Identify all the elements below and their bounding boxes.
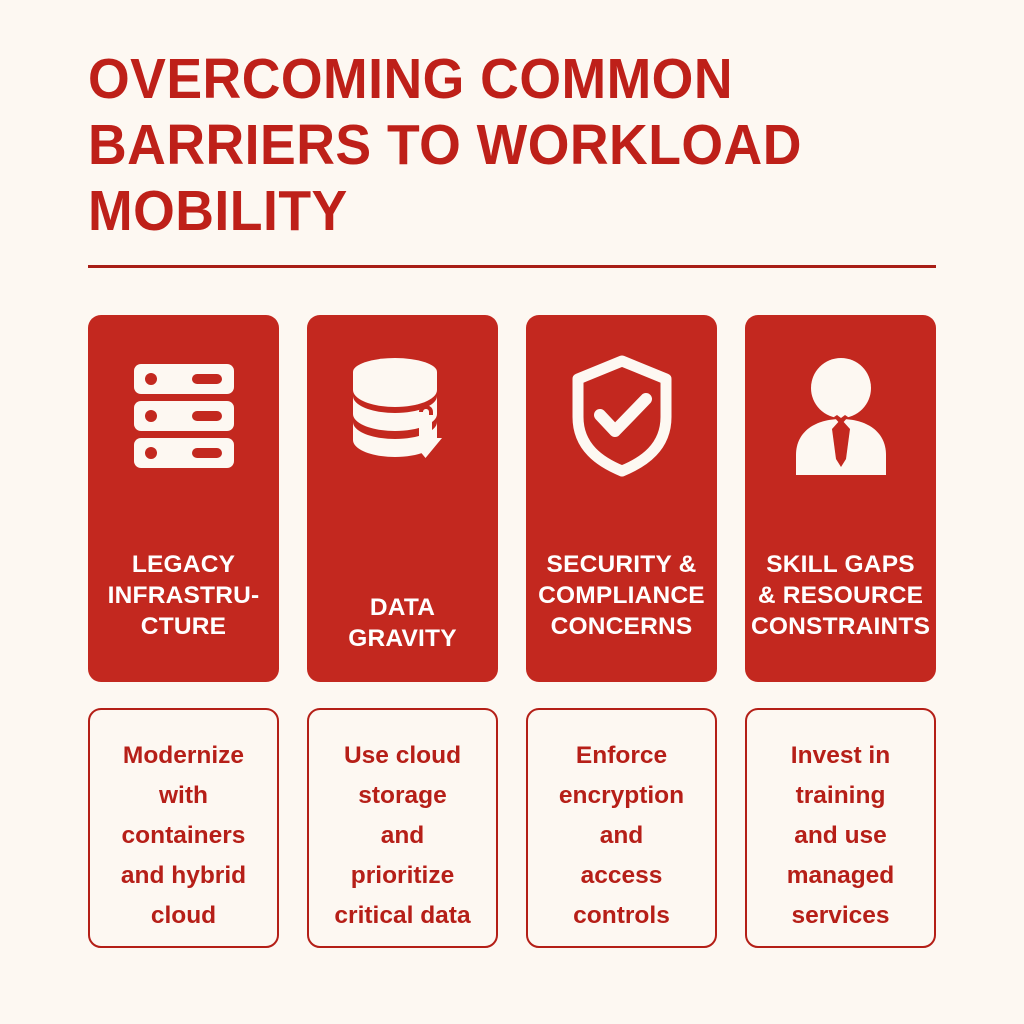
solution-text-line-4: and hybrid (121, 856, 246, 896)
barrier-card-title-line-1: SKILL GAPS (751, 549, 930, 580)
solution-text: Invest in training and use managed servi… (779, 736, 903, 936)
server-rack-icon (88, 351, 279, 481)
page-title-line-1: OVERCOMING COMMON (88, 46, 896, 112)
infographic-root: OVERCOMING COMMON BARRIERS TO WORKLOAD M… (0, 0, 1024, 1024)
solution-box-data-gravity[interactable]: Use cloud storage and prioritize critica… (307, 708, 498, 948)
barrier-card-title-line-1: DATA (313, 592, 492, 623)
solution-text-line-2: with (121, 776, 246, 816)
barrier-card-legacy-infrastructure[interactable]: LEGACY INFRASTRU- CTURE (88, 315, 279, 682)
solution-text: Modernize with containers and hybrid clo… (113, 736, 254, 936)
barrier-card-title-line-3: CONSTRAINTS (751, 611, 930, 642)
barrier-card-title: DATA GRAVITY (313, 592, 492, 654)
barrier-card-title-line-2: INFRASTRU- (94, 580, 273, 611)
solution-text-line-5: services (787, 896, 895, 936)
title-divider (88, 265, 936, 268)
page-title-line-3: MOBILITY (88, 178, 896, 244)
solution-text-line-5: critical data (334, 896, 470, 936)
business-person-icon (745, 351, 936, 481)
solution-text-line-1: Invest in (787, 736, 895, 776)
barrier-card-security-compliance[interactable]: SECURITY & COMPLIANCE CONCERNS (526, 315, 717, 682)
barrier-card-title: SECURITY & COMPLIANCE CONCERNS (532, 549, 711, 642)
solution-box-legacy-infrastructure[interactable]: Modernize with containers and hybrid clo… (88, 708, 279, 948)
solution-text-line-5: controls (559, 896, 684, 936)
solution-text-line-2: encryption (559, 776, 684, 816)
solution-text-line-4: prioritize (334, 856, 470, 896)
barrier-card-title-line-3: CTURE (94, 611, 273, 642)
solution-box-row: Modernize with containers and hybrid clo… (88, 708, 936, 948)
solution-text-line-4: access (559, 856, 684, 896)
barrier-card-title-line-1: SECURITY & (532, 549, 711, 580)
solution-text-line-4: managed (787, 856, 895, 896)
barrier-card-title-line-3: CONCERNS (532, 611, 711, 642)
solution-text-line-3: containers (121, 816, 246, 856)
solution-text-line-3: and (559, 816, 684, 856)
barrier-card-title-line-1: LEGACY (94, 549, 273, 580)
database-download-icon (307, 351, 498, 481)
barrier-card-title: LEGACY INFRASTRU- CTURE (94, 549, 273, 642)
solution-text-line-5: cloud (121, 896, 246, 936)
solution-text-line-3: and (334, 816, 470, 856)
barrier-card-skill-gaps[interactable]: SKILL GAPS & RESOURCE CONSTRAINTS (745, 315, 936, 682)
solution-text-line-1: Enforce (559, 736, 684, 776)
solution-text-line-2: storage (334, 776, 470, 816)
shield-check-icon (526, 351, 717, 481)
solution-box-security-compliance[interactable]: Enforce encryption and access controls (526, 708, 717, 948)
solution-text: Use cloud storage and prioritize critica… (326, 736, 478, 936)
barrier-card-row: LEGACY INFRASTRU- CTURE (88, 315, 936, 682)
page-title: OVERCOMING COMMON BARRIERS TO WORKLOAD M… (88, 46, 948, 244)
barrier-card-title: SKILL GAPS & RESOURCE CONSTRAINTS (751, 549, 930, 642)
barrier-card-title-line-2: COMPLIANCE (532, 580, 711, 611)
solution-text-line-2: training (787, 776, 895, 816)
barrier-card-data-gravity[interactable]: DATA GRAVITY (307, 315, 498, 682)
solution-text-line-1: Modernize (121, 736, 246, 776)
solution-box-skill-gaps[interactable]: Invest in training and use managed servi… (745, 708, 936, 948)
solution-text: Enforce encryption and access controls (551, 736, 692, 936)
barrier-card-title-line-2: & RESOURCE (751, 580, 930, 611)
solution-text-line-1: Use cloud (334, 736, 470, 776)
barrier-card-title-line-2: GRAVITY (313, 623, 492, 654)
page-title-line-2: BARRIERS TO WORKLOAD (88, 112, 896, 178)
solution-text-line-3: and use (787, 816, 895, 856)
